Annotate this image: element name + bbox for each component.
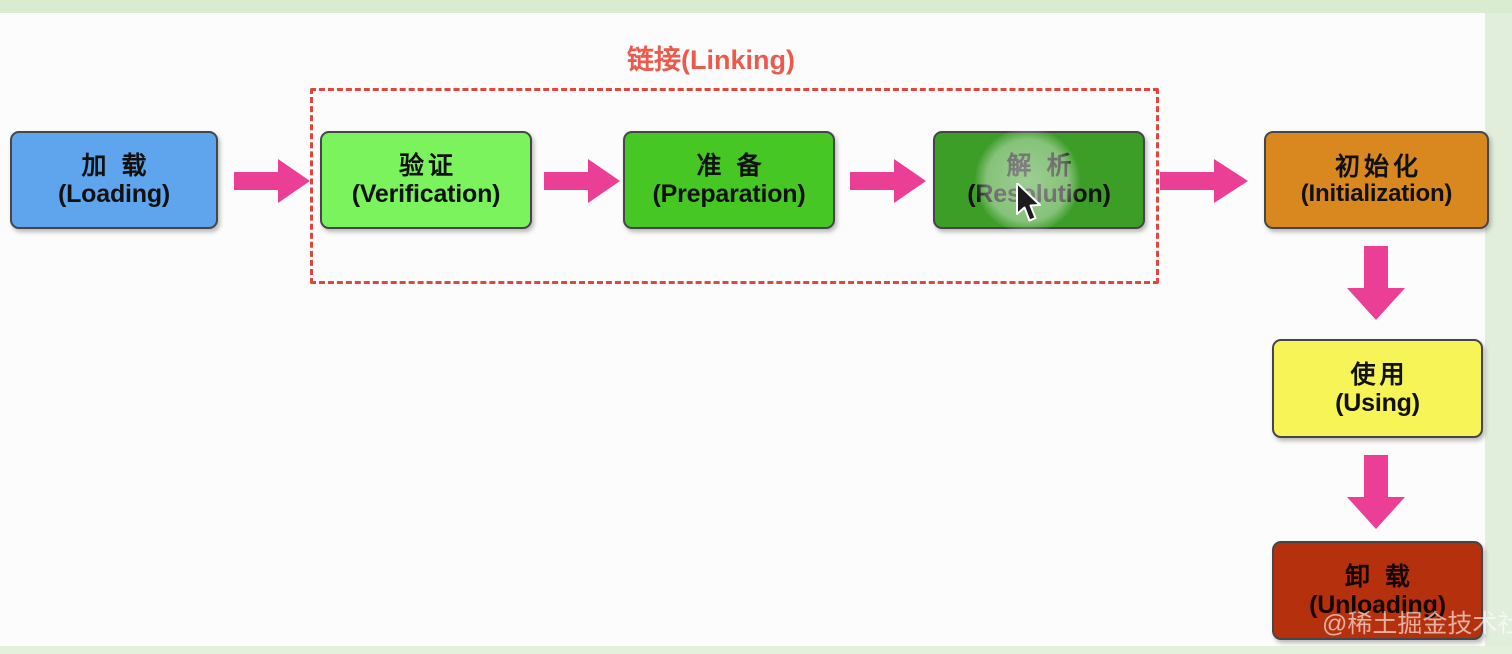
node-preparation-label-cn: 准 备 — [693, 152, 766, 180]
node-resolution[interactable]: 解 析 (Resolution) — [933, 131, 1145, 229]
right-background-band — [1485, 13, 1512, 646]
node-verification-label-en: (Verification) — [352, 180, 501, 208]
node-verification[interactable]: 验证 (Verification) — [320, 131, 532, 229]
node-unloading-label-cn: 卸 载 — [1341, 563, 1414, 591]
node-verification-label-cn: 验证 — [395, 152, 457, 180]
node-using-label-cn: 使用 — [1346, 361, 1408, 389]
node-initialization-label-en: (Initialization) — [1301, 181, 1452, 208]
linking-group-label: 链接(Linking) — [627, 38, 795, 77]
top-background-band — [0, 0, 1512, 13]
node-using-label-en: (Using) — [1335, 389, 1420, 417]
watermark-text: @稀土掘金技术社区 — [1322, 604, 1512, 640]
diagram-canvas: 链接(Linking) 加 载 (Loading) 验证 (Verificati… — [0, 0, 1512, 654]
node-initialization-label-cn: 初始化 — [1331, 153, 1422, 181]
arrow-down-icon-using-to-unloading — [1344, 455, 1408, 529]
node-resolution-label-cn: 解 析 — [1003, 152, 1076, 180]
node-loading-label-cn: 加 载 — [78, 152, 151, 180]
node-preparation-label-en: (Preparation) — [653, 180, 806, 208]
node-resolution-label-en: (Resolution) — [967, 180, 1110, 208]
arrow-down-icon-initialization-to-using — [1344, 246, 1408, 320]
node-loading-label-en: (Loading) — [58, 180, 170, 208]
node-initialization[interactable]: 初始化 (Initialization) — [1264, 131, 1489, 229]
arrow-right-icon-loading-to-verification — [234, 156, 310, 206]
node-loading[interactable]: 加 载 (Loading) — [10, 131, 218, 229]
arrow-right-icon-verification-to-preparation — [544, 156, 620, 206]
arrow-right-icon-resolution-to-initialization — [1160, 156, 1248, 206]
arrow-right-icon-preparation-to-resolution — [850, 156, 926, 206]
node-using[interactable]: 使用 (Using) — [1272, 339, 1483, 438]
node-preparation[interactable]: 准 备 (Preparation) — [623, 131, 835, 229]
bottom-background-band — [0, 646, 1512, 654]
